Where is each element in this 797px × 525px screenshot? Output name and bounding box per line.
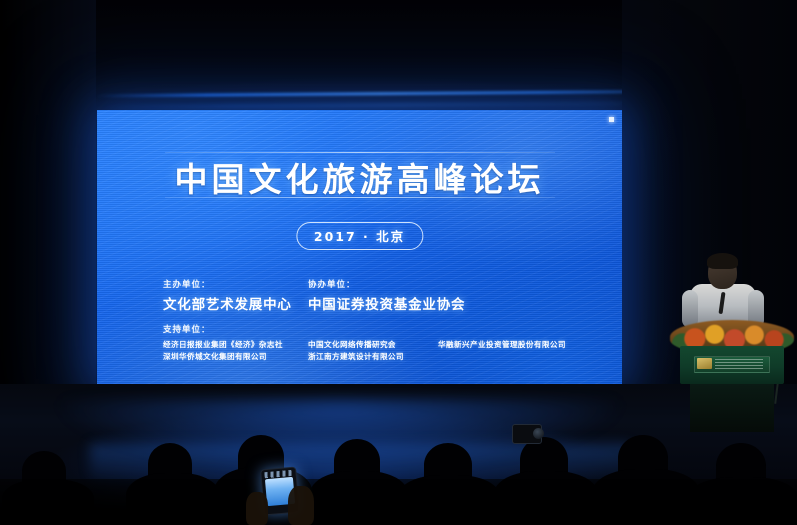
supporter-item: 经济日报报业集团《经济》杂志社 xyxy=(163,339,308,351)
organizer-column: 主办单位： 文化部艺术发展中心 xyxy=(163,278,292,313)
organizer-name: 文化部艺术发展中心 xyxy=(163,293,292,313)
projection-screen: 中国文化旅游高峰论坛 2017 · 北京 主办单位： 文化部艺术发展中心 协办单… xyxy=(97,110,622,384)
speaker-hair xyxy=(707,253,738,269)
audience-silhouettes xyxy=(0,432,797,525)
supporters-column-b: 中国文化网络传播研究会 浙江南方建筑设计有限公司 xyxy=(308,339,438,362)
supporters-grid: 经济日报报业集团《经济》杂志社 深圳华侨城文化集团有限公司 中国文化网络传播研究… xyxy=(163,339,592,362)
supporters-kicker: 支持单位： xyxy=(163,323,592,335)
camera-lens-icon xyxy=(533,428,544,439)
co-organizer-column: 协办单位： 中国证券投资基金业协会 xyxy=(308,278,465,313)
slide-content: 中国文化旅游高峰论坛 2017 · 北京 主办单位： 文化部艺术发展中心 协办单… xyxy=(97,110,622,384)
supporters-block: 支持单位： 经济日报报业集团《经济》杂志社 深圳华侨城文化集团有限公司 中国文化… xyxy=(163,323,592,362)
co-organizer-kicker: 协办单位： xyxy=(308,278,465,290)
supporters-column-a: 经济日报报业集团《经济》杂志社 深圳华侨城文化集团有限公司 xyxy=(163,339,308,362)
wall-left xyxy=(0,0,96,400)
co-organizer-name: 中国证券投资基金业协会 xyxy=(308,293,465,313)
supporters-column-c: 华融新兴产业投资管理股份有限公司 xyxy=(438,339,566,362)
audience-foreground-band xyxy=(0,479,797,525)
page-title: 中国文化旅游高峰论坛 xyxy=(97,153,622,201)
supporter-item: 浙江南方建筑设计有限公司 xyxy=(308,351,438,363)
podium-logo-icon xyxy=(697,358,712,369)
organizer-kicker: 主办单位： xyxy=(163,278,292,290)
hand-holding-phone xyxy=(288,486,314,525)
auditorium-scene: 中国文化旅游高峰论坛 2017 · 北京 主办单位： 文化部艺术发展中心 协办单… xyxy=(0,0,797,525)
podium-logo-text xyxy=(715,358,763,369)
title-rule-bottom xyxy=(165,197,555,198)
supporter-item: 深圳华侨城文化集团有限公司 xyxy=(163,351,308,363)
supporter-item: 华融新兴产业投资管理股份有限公司 xyxy=(438,339,566,351)
camera-recording-device xyxy=(512,424,542,444)
podium-and-speaker xyxy=(668,246,796,436)
hand-holding-phone xyxy=(246,492,268,525)
status-badge: 2017 · 北京 xyxy=(296,222,423,250)
podium-base xyxy=(690,384,774,432)
supporter-item: 中国文化网络传播研究会 xyxy=(308,339,438,351)
